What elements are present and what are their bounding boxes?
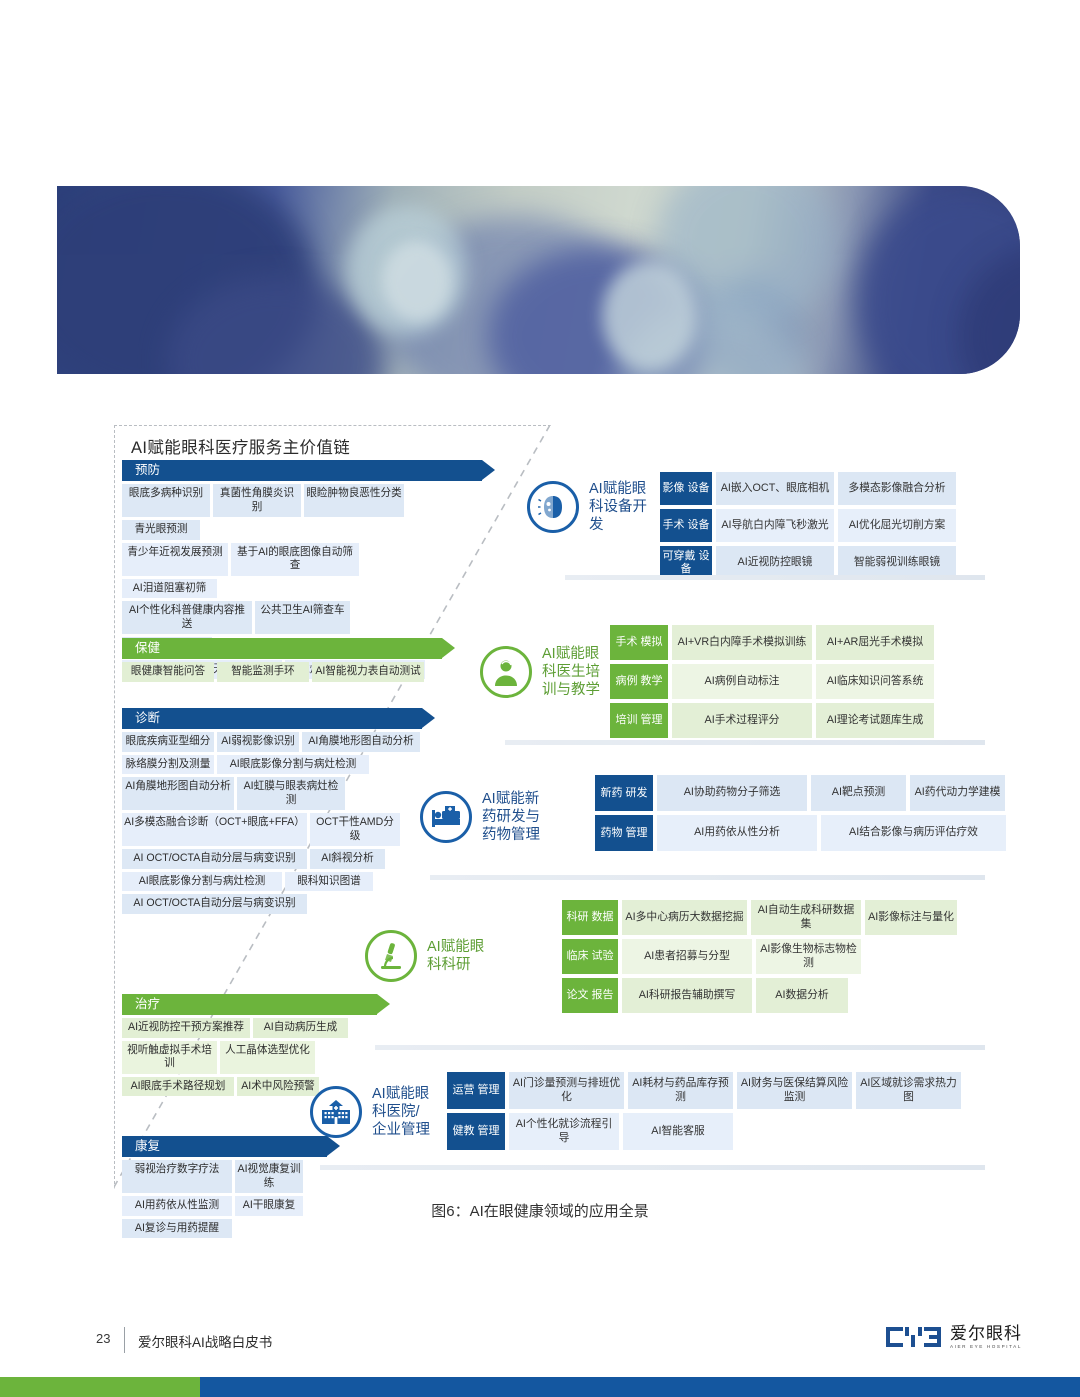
branch-category-tag[interactable]: 论文 报告 (562, 978, 618, 1013)
branch-row: 病例 教学AI病例自动标注AI临床知识问答系统 (610, 664, 934, 699)
stage-row: AI近视防控干预方案推荐AI自动病历生成 (122, 1018, 432, 1038)
branch-row: 药物 管理AI用药依从性分析AI结合影像与病历评估疗效 (595, 815, 1006, 851)
branch-training: AI赋能眼 科医生培 训与教学 (480, 645, 600, 699)
branch-item[interactable]: AI+VR白内障手术模拟训练 (672, 625, 812, 660)
value-chain-item[interactable]: AI OCT/OCTA自动分层与病变识别 (122, 849, 307, 869)
branch-item[interactable]: AI个性化就诊流程引导 (509, 1113, 619, 1150)
branch-grid-training: 手术 模拟AI+VR白内障手术模拟训练AI+AR屈光手术模拟病例 教学AI病例自… (610, 625, 934, 738)
branch-item[interactable]: AI智能客服 (623, 1113, 733, 1150)
branch-item[interactable]: AI自动生成科研数据集 (751, 900, 861, 935)
value-chain-item[interactable]: AI视觉康复训练 (235, 1160, 303, 1193)
stage-row: AI复诊与用药提醒 (122, 1219, 432, 1239)
branch-grid-management: 运营 管理AI门诊量预测与排班优化AI耗材与药品库存预测AI财务与医保结算风险监… (447, 1072, 961, 1150)
branch-item[interactable]: AI影像生物标志物检测 (756, 939, 861, 974)
value-chain-item[interactable]: 脉络膜分割及测量 (122, 755, 214, 775)
stage-row: 眼底疾病亚型细分AI弱视影像识别AI角膜地形图自动分析 (122, 732, 432, 752)
value-chain-item[interactable]: 弱视治疗数字疗法 (122, 1160, 232, 1193)
value-chain-item[interactable]: AI眼底影像分割与病灶检测 (217, 755, 369, 775)
page-footer: 23 爱尔眼科AI战略白皮书 爱尔眼科 AIER EYE HOSPITAL (0, 1325, 1080, 1365)
value-chain-item[interactable]: 眼睑肿物良恶性分类 (304, 484, 404, 517)
hospital-building-icon (310, 1086, 362, 1138)
application-landscape-diagram: AI赋能眼科医疗服务主价值链 预防眼底多病种识别真菌性角膜炎识别眼睑肿物良恶性分… (0, 420, 1080, 1190)
branch-category-tag[interactable]: 健教 管理 (447, 1113, 505, 1150)
surgeon-mask-shape (382, 241, 452, 321)
value-chain-item[interactable]: 视听触虚拟手术培训 (122, 1041, 217, 1074)
branch-item[interactable]: AI协助药物分子筛选 (657, 775, 807, 811)
value-chain-title: AI赋能眼科医疗服务主价值链 (131, 434, 350, 458)
page-number: 23 (96, 1331, 110, 1346)
section-divider (430, 875, 985, 880)
branch-category-tag[interactable]: 手术 模拟 (610, 625, 668, 660)
branch-item[interactable]: AI临床知识问答系统 (816, 664, 934, 699)
bottom-color-band (0, 1377, 1080, 1397)
value-chain-item[interactable]: AI多模态融合诊断（OCT+眼底+FFA） (122, 813, 307, 846)
value-chain-item[interactable]: OCT干性AMD分级 (310, 813, 400, 846)
value-chain-item[interactable]: 眼底多病种识别 (122, 484, 210, 517)
branch-title-drug: AI赋能新 药研发与 药物管理 (482, 790, 540, 844)
branch-item[interactable]: AI门诊量预测与排班优化 (509, 1072, 624, 1109)
branch-item[interactable]: AI患者招募与分型 (622, 939, 752, 974)
value-chain-item[interactable]: AI虹膜与眼表病灶检测 (237, 777, 345, 810)
value-chain-stage-康复: 康复弱视治疗数字疗法AI视觉康复训练AI用药依从性监测AI干眼康复AI复诊与用药… (122, 1136, 432, 1238)
branch-item[interactable]: AI理论考试题库生成 (816, 703, 934, 738)
value-chain-item[interactable]: 基于AI的眼底图像自动筛查 (231, 543, 359, 576)
branch-item[interactable]: AI耗材与药品库存预测 (628, 1072, 733, 1109)
value-chain-item[interactable]: AI自动病历生成 (253, 1018, 348, 1038)
branch-row: 临床 试验AI患者招募与分型AI影像生物标志物检测 (562, 939, 957, 974)
branch-item[interactable]: 多模态影像融合分析 (838, 472, 956, 505)
hospital-bed-icon (420, 791, 472, 843)
section-divider (505, 740, 985, 745)
branch-item[interactable]: AI财务与医保结算风险监测 (737, 1072, 852, 1109)
branch-row: 论文 报告AI科研报告辅助撰写AI数据分析 (562, 978, 957, 1013)
band-green (0, 1377, 200, 1397)
value-chain-item[interactable]: 眼科知识图谱 (285, 872, 373, 892)
branch-title-training: AI赋能眼 科医生培 训与教学 (542, 645, 600, 699)
branch-category-tag[interactable]: 新药 研发 (595, 775, 653, 811)
branch-category-tag[interactable]: 临床 试验 (562, 939, 618, 974)
branch-item[interactable]: AI靶点预测 (811, 775, 906, 811)
value-chain-item[interactable]: AI角膜地形图自动分析 (302, 732, 420, 752)
value-chain-item[interactable]: AI近视防控干预方案推荐 (122, 1018, 250, 1038)
stage-row: AI眼底影像分割与病灶检测眼科知识图谱 (122, 872, 432, 892)
branch-row: 科研 数据AI多中心病历大数据挖掘AI自动生成科研数据集AI影像标注与量化 (562, 900, 957, 935)
branch-item[interactable]: AI用药依从性分析 (657, 815, 817, 851)
branch-devices: AI赋能眼 科设备开 发 (527, 480, 647, 534)
stage-label-康复: 康复 (122, 1136, 327, 1157)
branch-row: 新药 研发AI协助药物分子筛选AI靶点预测AI药代动力学建模 (595, 775, 1006, 811)
surgeon-mask-shape (602, 261, 697, 371)
branch-grid-devices: 影像 设备AI嵌入OCT、眼底相机多模态影像融合分析手术 设备AI导航白内障飞秒… (660, 472, 956, 579)
band-blue (200, 1377, 1080, 1397)
stage-label-诊断: 诊断 (122, 708, 422, 729)
branch-row: 手术 模拟AI+VR白内障手术模拟训练AI+AR屈光手术模拟 (610, 625, 934, 660)
branch-row: 手术 设备AI导航白内障飞秒激光AI优化屈光切削方案 (660, 509, 956, 542)
branch-category-tag[interactable]: 影像 设备 (660, 472, 712, 505)
section-divider (320, 1165, 985, 1170)
branch-management: AI赋能眼 科医院/ 企业管理 (310, 1085, 430, 1139)
stage-row: 脉络膜分割及测量AI眼底影像分割与病灶检测 (122, 755, 432, 775)
branch-item[interactable]: AI+AR屈光手术模拟 (816, 625, 934, 660)
branch-item[interactable]: AI结合影像与病历评估疗效 (821, 815, 1006, 851)
value-chain-stage-保健: 保健眼健康智能问答智能监测手环AI智能视力表自动测试 (122, 638, 432, 682)
branch-category-tag[interactable]: 科研 数据 (562, 900, 618, 935)
footer-divider (124, 1327, 125, 1353)
value-chain-item[interactable]: AI角膜地形图自动分析 (122, 777, 234, 810)
value-chain-item[interactable]: AI眼底影像分割与病灶检测 (122, 872, 282, 892)
hero-photo (57, 186, 1020, 374)
branch-item[interactable]: AI导航白内障飞秒激光 (716, 509, 834, 542)
brand-name-en: AIER EYE HOSPITAL (950, 1345, 1022, 1350)
value-chain-item[interactable]: AI弱视影像识别 (217, 732, 299, 752)
branch-item[interactable]: AI病例自动标注 (672, 664, 812, 699)
doctor-person-icon (480, 646, 532, 698)
branch-item[interactable]: AI数据分析 (756, 978, 848, 1013)
branch-grid-research: 科研 数据AI多中心病历大数据挖掘AI自动生成科研数据集AI影像标注与量化临床 … (562, 900, 957, 1013)
stage-row: AI OCT/OCTA自动分层与病变识别AI斜视分析 (122, 849, 432, 869)
value-chain-item[interactable]: 眼底疾病亚型细分 (122, 732, 214, 752)
stage-row: AI多模态融合诊断（OCT+眼底+FFA）OCT干性AMD分级 (122, 813, 432, 846)
branch-item[interactable]: AI手术过程评分 (672, 703, 812, 738)
footer-document-title: 爱尔眼科AI战略白皮书 (138, 1331, 272, 1351)
value-chain-item[interactable]: AI术中风险预警 (237, 1077, 319, 1097)
value-chain-item[interactable]: AI眼底手术路径规划 (122, 1077, 234, 1097)
branch-title-devices: AI赋能眼 科设备开 发 (589, 480, 647, 534)
branch-category-tag[interactable]: 运营 管理 (447, 1072, 505, 1109)
figure-caption: 图6：AI在眼健康领域的应用全景 (0, 1200, 1080, 1221)
stage-label-预防: 预防 (122, 460, 482, 481)
value-chain-item[interactable]: 人工晶体选型优化 (220, 1041, 315, 1074)
branch-category-tag[interactable]: 培训 管理 (610, 703, 668, 738)
branch-title-management: AI赋能眼 科医院/ 企业管理 (372, 1085, 430, 1139)
eye-logo-mark-icon (886, 1327, 941, 1347)
branch-category-tag[interactable]: 药物 管理 (595, 815, 653, 851)
branch-category-tag[interactable]: 病例 教学 (610, 664, 668, 699)
brain-eye-icon (527, 481, 579, 533)
branch-item[interactable]: AI嵌入OCT、眼底相机 (716, 472, 834, 505)
stage-label-治疗: 治疗 (122, 994, 377, 1015)
stage-row: 眼底多病种识别真菌性角膜炎识别眼睑肿物良恶性分类青光眼预测 (122, 484, 432, 540)
value-chain-item[interactable]: AI复诊与用药提醒 (122, 1219, 232, 1239)
branch-row: 运营 管理AI门诊量预测与排班优化AI耗材与药品库存预测AI财务与医保结算风险监… (447, 1072, 961, 1109)
value-chain-item[interactable]: AI智能视力表自动测试 (312, 662, 424, 682)
stage-row: AI角膜地形图自动分析AI虹膜与眼表病灶检测 (122, 777, 432, 810)
branch-item[interactable]: AI区域就诊需求热力图 (856, 1072, 961, 1109)
stage-row: 青少年近视发展预测基于AI的眼底图像自动筛查AI泪道阻塞初筛 (122, 543, 432, 599)
value-chain-item[interactable]: 眼健康智能问答 (122, 662, 214, 682)
stage-row: 眼健康智能问答智能监测手环AI智能视力表自动测试 (122, 662, 432, 682)
value-chain-item[interactable]: AI个性化科普健康内容推送 (122, 601, 252, 634)
branch-item[interactable]: AI优化屈光切削方案 (838, 509, 956, 542)
branch-item[interactable]: AI多中心病历大数据挖掘 (622, 900, 747, 935)
value-chain-item[interactable]: 智能监测手环 (217, 662, 309, 682)
value-chain-item[interactable]: 公共卫生AI筛查车 (255, 601, 350, 634)
value-chain-item[interactable]: AI泪道阻塞初筛 (122, 579, 217, 599)
section-divider (565, 575, 985, 580)
branch-research: AI赋能眼 科科研 (365, 930, 484, 982)
branch-category-tag[interactable]: 手术 设备 (660, 509, 712, 542)
branch-drug: AI赋能新 药研发与 药物管理 (420, 790, 540, 844)
branch-item[interactable]: AI影像标注与量化 (865, 900, 957, 935)
microscope-icon (365, 930, 417, 982)
branch-grid-drug: 新药 研发AI协助药物分子筛选AI靶点预测AI药代动力学建模药物 管理AI用药依… (595, 775, 1006, 851)
value-chain-item[interactable]: AI斜视分析 (310, 849, 385, 869)
brand-name-cn: 爱尔眼科 (950, 1325, 1022, 1342)
value-chain-item[interactable]: 真菌性角膜炎识别 (213, 484, 301, 517)
section-divider (375, 1045, 985, 1050)
brand-logo: 爱尔眼科 AIER EYE HOSPITAL (886, 1325, 1022, 1350)
branch-item[interactable]: AI药代动力学建模 (910, 775, 1005, 811)
branch-title-research: AI赋能眼 科科研 (427, 938, 484, 974)
branch-row: 影像 设备AI嵌入OCT、眼底相机多模态影像融合分析 (660, 472, 956, 505)
value-chain-item[interactable]: 青光眼预测 (122, 520, 200, 540)
branch-item[interactable]: AI科研报告辅助撰写 (622, 978, 752, 1013)
brand-name: 爱尔眼科 AIER EYE HOSPITAL (950, 1325, 1022, 1350)
branch-row: 健教 管理AI个性化就诊流程引导AI智能客服 (447, 1113, 961, 1150)
value-chain-stage-诊断: 诊断眼底疾病亚型细分AI弱视影像识别AI角膜地形图自动分析脉络膜分割及测量AI眼… (122, 708, 432, 914)
branch-row: 培训 管理AI手术过程评分AI理论考试题库生成 (610, 703, 934, 738)
value-chain-item[interactable]: AI OCT/OCTA自动分层与病变识别 (122, 894, 307, 914)
value-chain-item[interactable]: 青少年近视发展预测 (122, 543, 228, 576)
stage-row: AI OCT/OCTA自动分层与病变识别 (122, 894, 432, 914)
stage-label-保健: 保健 (122, 638, 442, 659)
